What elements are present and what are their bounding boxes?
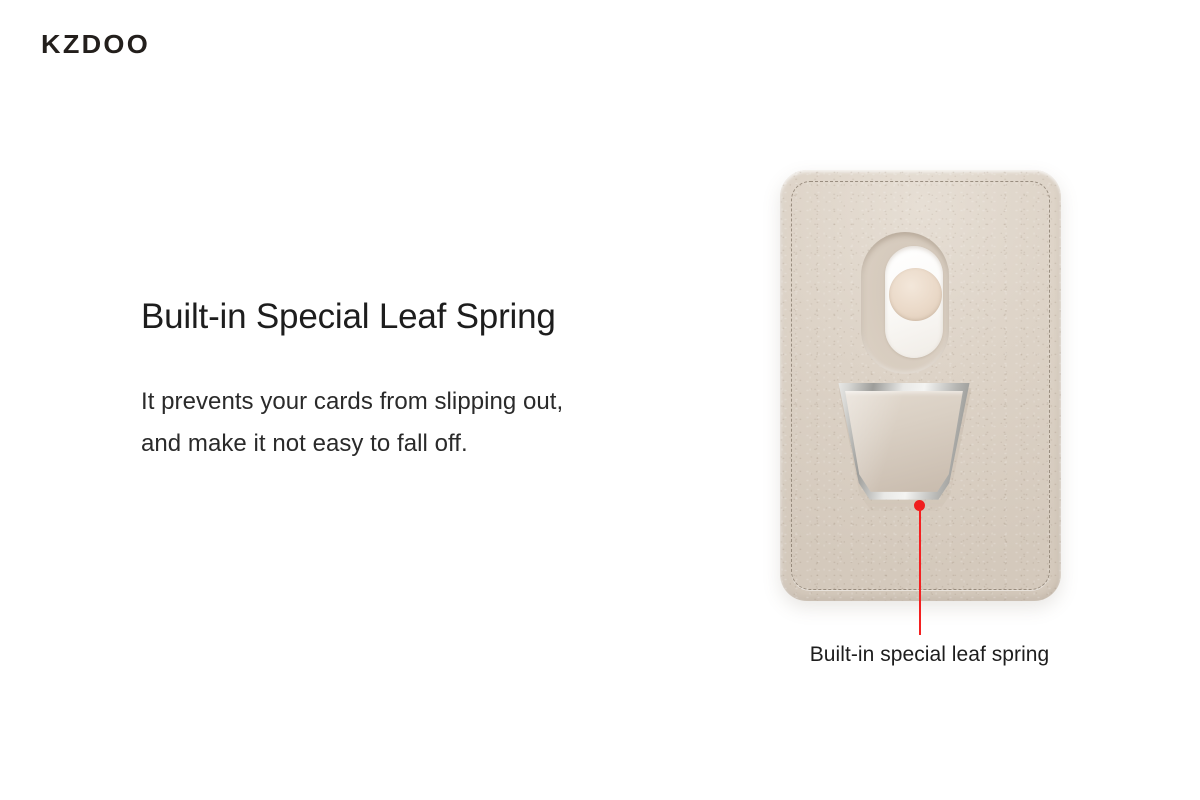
feature-description-line-2: and make it not easy to fall off. [141, 423, 721, 464]
callout-leader-line [919, 508, 921, 635]
feature-headline: Built-in Special Leaf Spring [141, 296, 721, 337]
product-image: Built-in special leaf spring [741, 150, 1121, 690]
marketing-copy-block: Built-in Special Leaf Spring It prevents… [141, 296, 721, 464]
callout-label: Built-in special leaf spring [707, 643, 1152, 667]
brand-logo: KZDOO [41, 31, 150, 57]
feature-description: It prevents your cards from slipping out… [141, 337, 721, 464]
magnet-disc [889, 268, 942, 321]
feature-description-line-1: It prevents your cards from slipping out… [141, 381, 721, 422]
